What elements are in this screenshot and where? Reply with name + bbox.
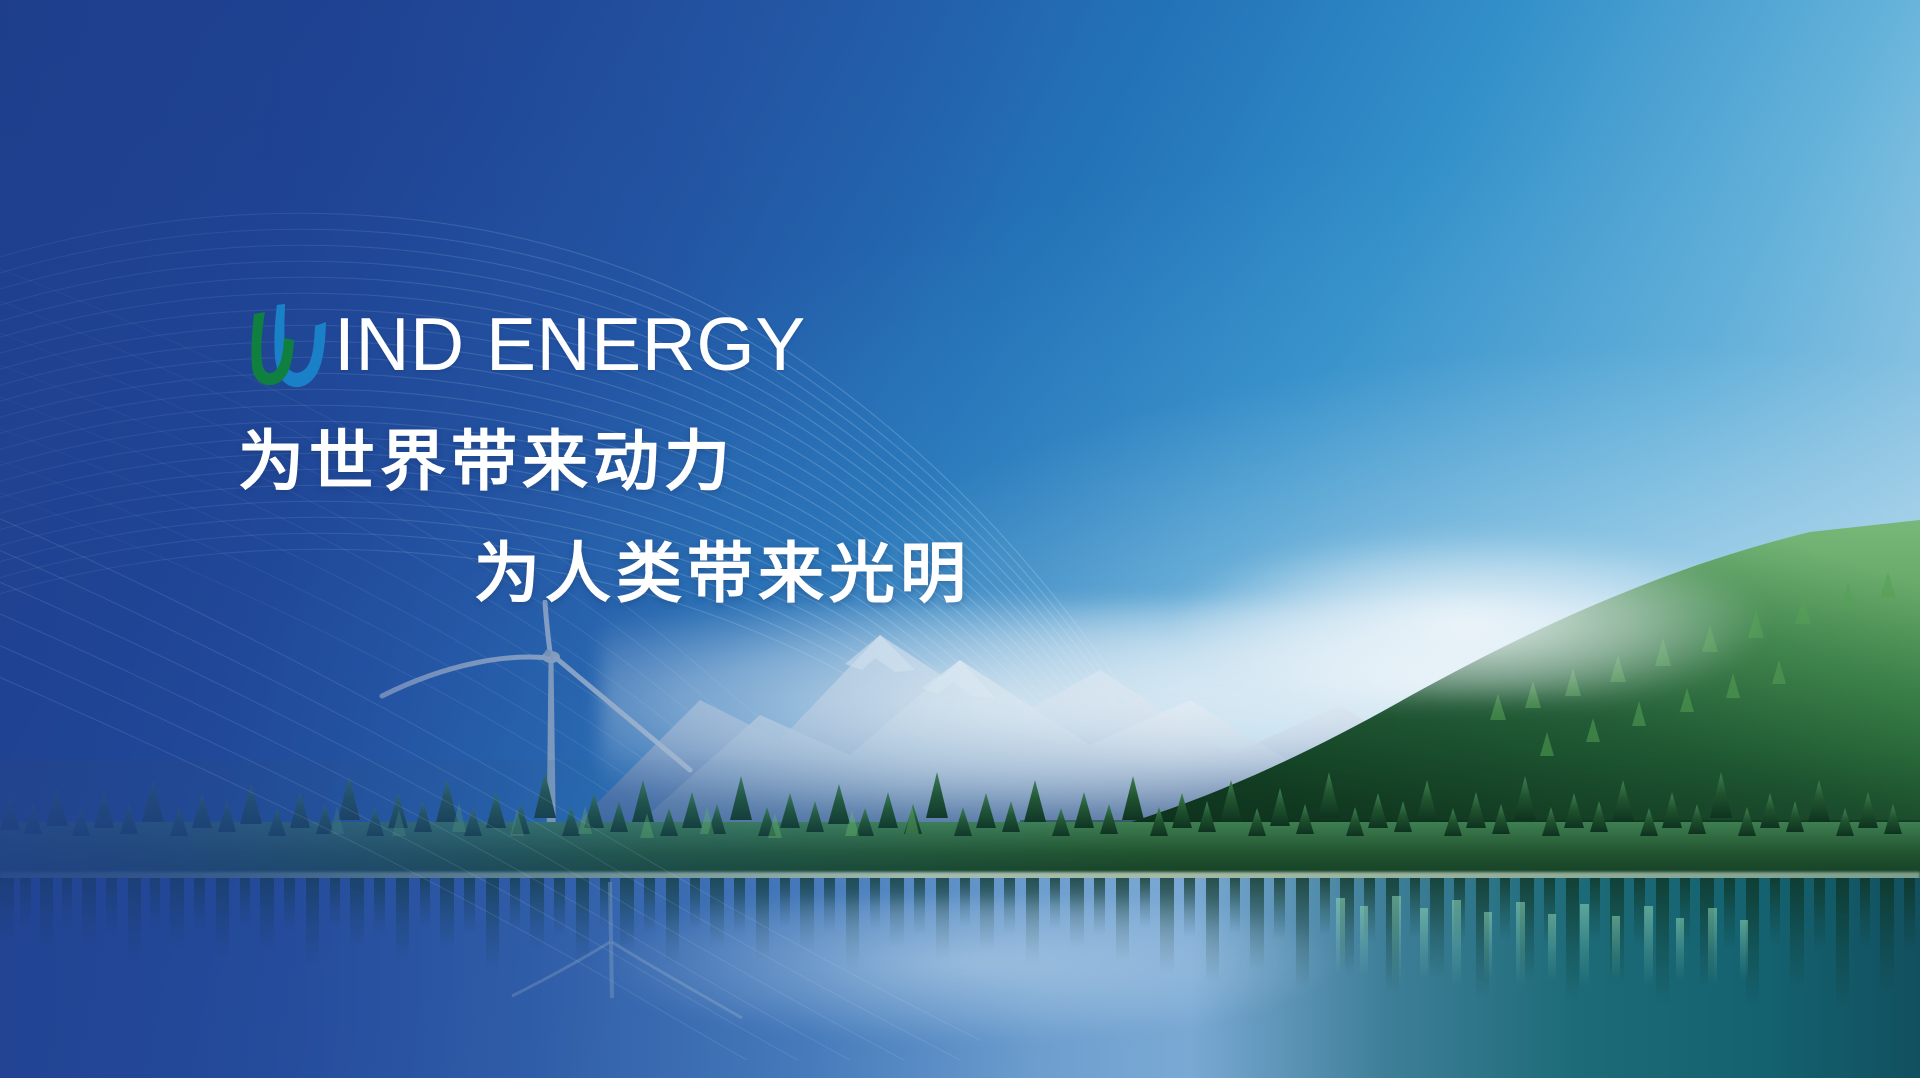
tagline-line-2: 为人类带来光明: [474, 540, 971, 606]
banner-content: IND ENERGY 为世界带来动力 为人类带来光明: [0, 0, 1920, 1078]
brand-lockup: IND ENERGY: [236, 300, 806, 392]
tagline-line-1: 为世界带来动力: [238, 428, 735, 494]
wind-swoosh-w-icon: [236, 300, 332, 392]
hero-banner: IND ENERGY 为世界带来动力 为人类带来光明: [0, 0, 1920, 1078]
brand-wordmark: IND ENERGY: [334, 307, 806, 382]
